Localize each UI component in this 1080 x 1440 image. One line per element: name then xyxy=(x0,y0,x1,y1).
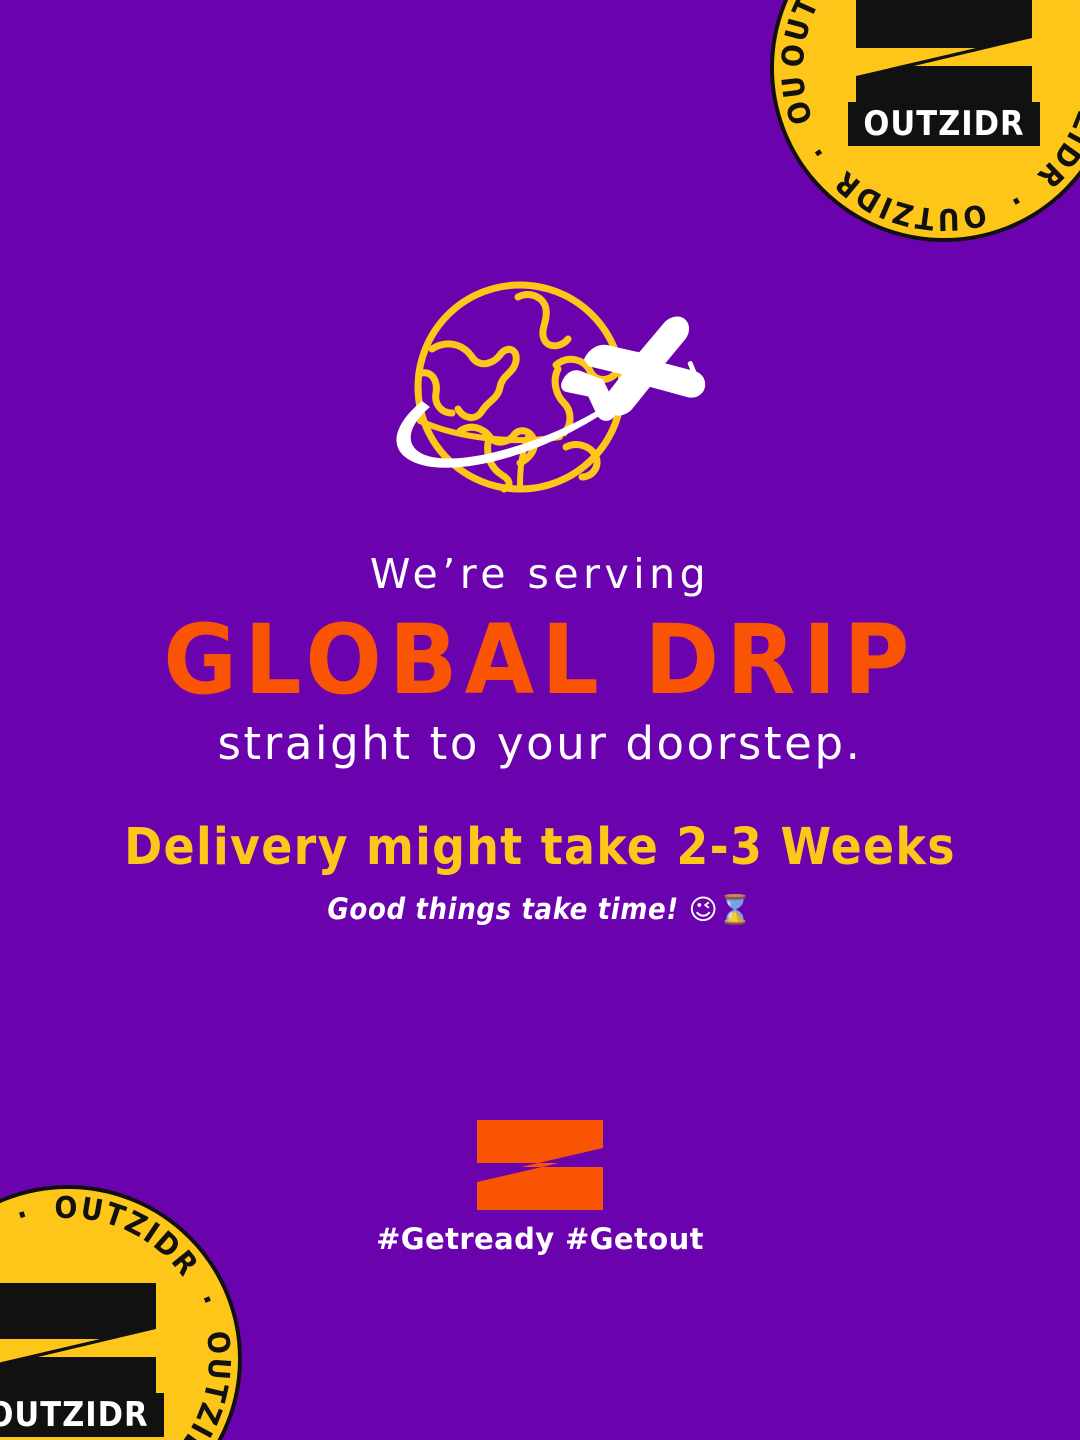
svg-text:OUTZIDR: OUTZIDR xyxy=(863,104,1024,144)
headline-subline: straight to your doorstep. xyxy=(0,719,1080,769)
delivery-reassurance: Good things take time! 😉⌛ xyxy=(0,894,1080,926)
wink-hourglass-emoji: 😉⌛ xyxy=(689,893,753,926)
badge-center-wordmark: OUTZIDR xyxy=(848,102,1040,146)
hero-illustration xyxy=(0,272,1080,512)
headline-block: We’re serving GLOBAL DRIP straight to yo… xyxy=(0,552,1080,769)
outzidr-sticker-bottom-left: OUTZIDR · OUTZIDR · OUTZIDR · OUTZIDR · … xyxy=(0,1179,248,1440)
page-title: GLOBAL DRIP xyxy=(0,609,1080,713)
badge-center-wordmark: OUTZIDR xyxy=(0,1393,164,1437)
headline-kicker: We’re serving xyxy=(0,552,1080,598)
outzidr-z-logo xyxy=(477,1120,603,1210)
promo-poster: OUTZIDR · OUTZIDR · OUTZIDR · OUTZIDR · … xyxy=(0,0,1080,1440)
globe-with-airplane-icon xyxy=(360,277,720,507)
svg-text:OUTZIDR: OUTZIDR xyxy=(0,1395,149,1435)
badge-svg: OUTZIDR · OUTZIDR · OUTZIDR · OUTZIDR · … xyxy=(0,1179,248,1440)
outzidr-sticker-top-right: OUTZIDR · OUTZIDR · OUTZIDR · OUTZIDR · … xyxy=(764,0,1080,253)
airplane-icon xyxy=(557,311,715,432)
delivery-estimate: Delivery might take 2-3 Weeks xyxy=(0,820,1080,876)
delivery-reassurance-text: Good things take time! xyxy=(327,892,678,926)
badge-svg: OUTZIDR · OUTZIDR · OUTZIDR · OUTZIDR · … xyxy=(764,0,1080,248)
delivery-notice: Delivery might take 2-3 Weeks Good thing… xyxy=(0,820,1080,926)
